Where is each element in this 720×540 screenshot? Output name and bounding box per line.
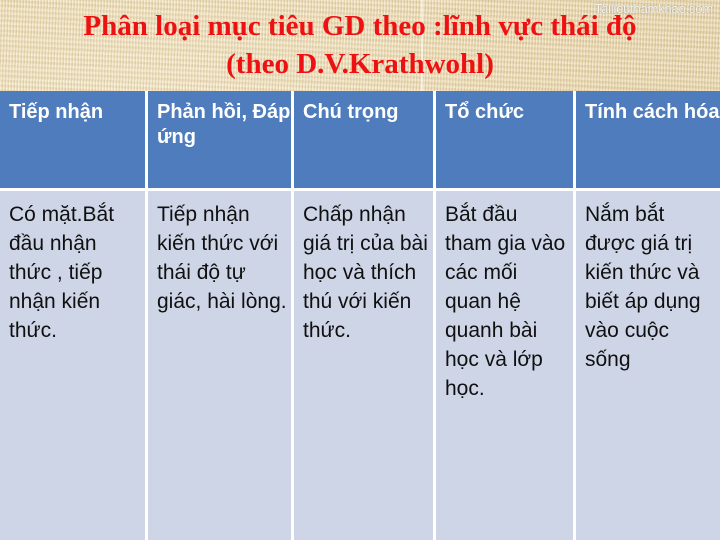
table-header-cell-tinh-cach-hoa: Tính cách hóa — [576, 91, 720, 188]
table-cell-phan-hoi-dap-ung: Tiếp nhận kiến thức với thái độ tự giác,… — [148, 191, 291, 540]
slide-canvas: Tailieuthamkhao.com Phân loại mục tiêu G… — [0, 0, 720, 540]
table-header-cell-phan-hoi-dap-ung: Phản hồi, Đáp ứng — [148, 91, 291, 188]
table-row: Có mặt.Bắt đầu nhận thức , tiếp nhận kiế… — [0, 191, 720, 540]
table-header-row: Tiếp nhận Phản hồi, Đáp ứng Chú trọng Tổ… — [0, 91, 720, 188]
taxonomy-table: Tiếp nhận Phản hồi, Đáp ứng Chú trọng Tổ… — [0, 91, 720, 540]
table-cell-tiep-nhan: Có mặt.Bắt đầu nhận thức , tiếp nhận kiế… — [0, 191, 145, 540]
table-cell-tinh-cach-hoa: Nắm bắt được giá trị kiến thức và biết á… — [576, 191, 720, 540]
table-cell-chu-trong: Chấp nhận giá trị của bài học và thích t… — [294, 191, 433, 540]
page-title: Phân loại mục tiêu GD theo :lĩnh vực thá… — [0, 7, 720, 83]
page-title-line-1: Phân loại mục tiêu GD theo :lĩnh vực thá… — [0, 7, 720, 45]
table-header-cell-chu-trong: Chú trọng — [294, 91, 433, 188]
page-title-line-2: (theo D.V.Krathwohl) — [0, 45, 720, 83]
table-cell-to-chuc: Bắt đầu tham gia vào các mối quan hệ qua… — [436, 191, 573, 540]
table-header-cell-to-chuc: Tổ chức — [436, 91, 573, 188]
table-header-cell-tiep-nhan: Tiếp nhận — [0, 91, 145, 188]
